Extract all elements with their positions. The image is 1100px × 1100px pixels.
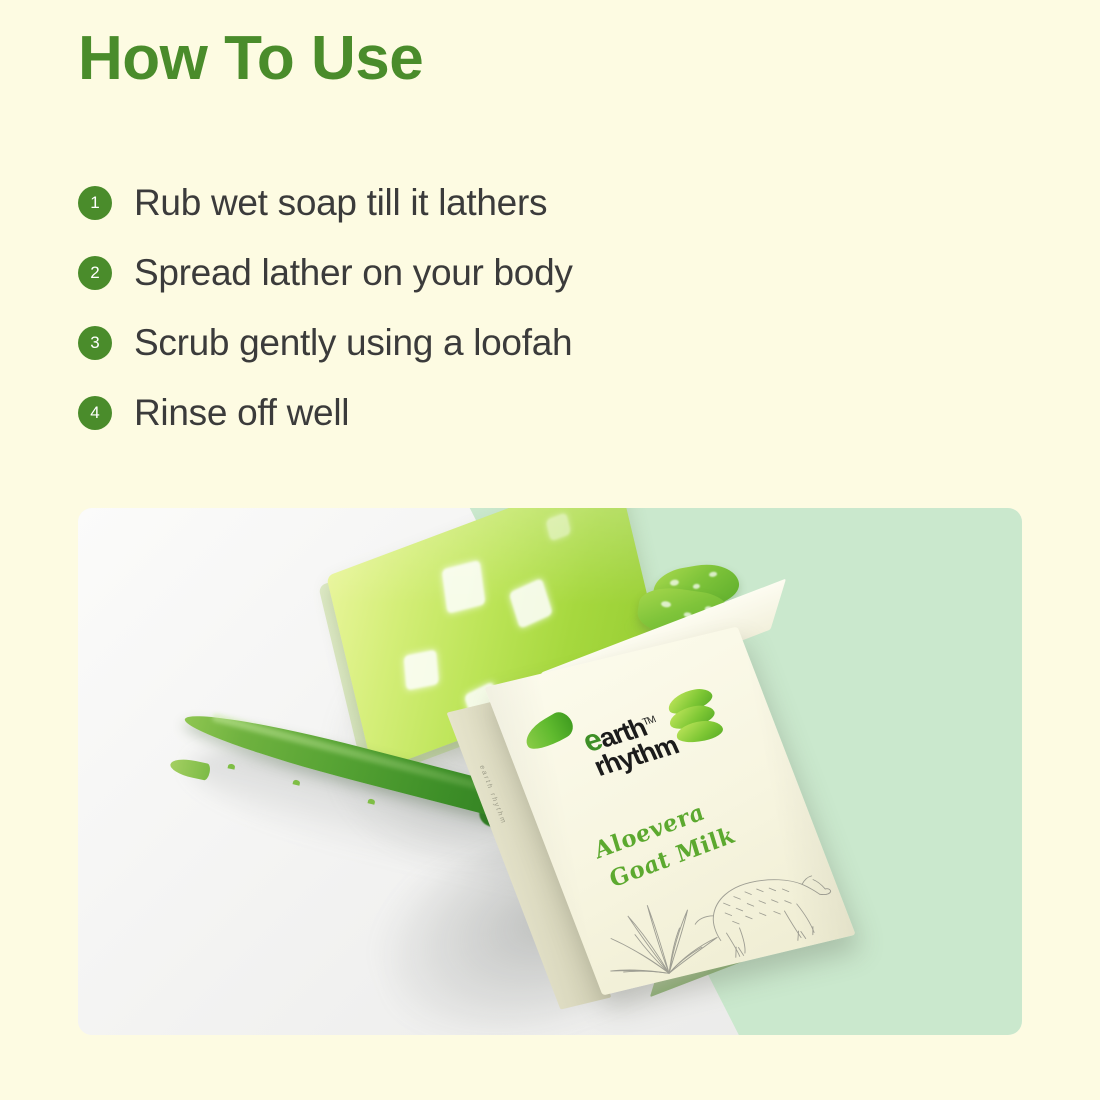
step-text: Scrub gently using a loofah: [134, 322, 572, 364]
page-title: How To Use: [78, 22, 423, 96]
step-number-badge: 4: [78, 396, 112, 430]
step-number-badge: 1: [78, 186, 112, 220]
trademark-icon: TM: [641, 715, 657, 729]
how-to-use-page: How To Use 1 Rub wet soap till it lather…: [0, 0, 1100, 1100]
step-text: Spread lather on your body: [134, 252, 573, 294]
step-number-badge: 2: [78, 256, 112, 290]
product-box: earth rhythm earthTM rhythm Aloev: [473, 638, 893, 1035]
list-item: 3 Scrub gently using a loofah: [78, 308, 878, 378]
product-photo-card: earth rhythm earthTM rhythm Aloev: [78, 508, 1022, 1035]
step-text: Rub wet soap till it lathers: [134, 182, 547, 224]
box-side-text: earth rhythm: [478, 765, 508, 826]
step-number-badge: 3: [78, 326, 112, 360]
list-item: 1 Rub wet soap till it lathers: [78, 168, 878, 238]
list-item: 2 Spread lather on your body: [78, 238, 878, 308]
step-text: Rinse off well: [134, 392, 349, 434]
aloe-leaf-icon: [519, 709, 579, 756]
brand-logo: earthTM rhythm: [579, 706, 682, 779]
steps-list: 1 Rub wet soap till it lathers 2 Spread …: [78, 168, 878, 448]
list-item: 4 Rinse off well: [78, 378, 878, 448]
